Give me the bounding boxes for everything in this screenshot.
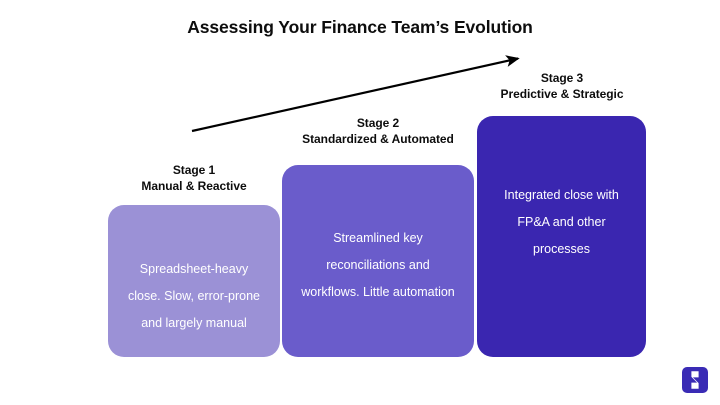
stage-box-1-text: Spreadsheet-heavy close. Slow, error-pro… [108, 256, 280, 337]
stage-box-1[interactable]: Spreadsheet-heavy close. Slow, error-pro… [108, 205, 280, 357]
stage-box-2-text: Streamlined key reconciliations and work… [282, 225, 474, 306]
stage-label-2: Stage 2 Standardized & Automated [272, 116, 484, 147]
stage-label-3: Stage 3 Predictive & Strategic [462, 71, 662, 102]
stage-label-1-line1: Stage 1 [108, 163, 280, 179]
stage-label-3-line2: Predictive & Strategic [462, 87, 662, 103]
stage-label-3-line1: Stage 3 [462, 71, 662, 87]
brand-logo-icon [682, 367, 708, 393]
stage-label-2-line1: Stage 2 [272, 116, 484, 132]
stage-label-1: Stage 1 Manual & Reactive [108, 163, 280, 194]
stage-box-3[interactable]: Integrated close with FP&A and other pro… [477, 116, 646, 357]
stage-label-1-line2: Manual & Reactive [108, 179, 280, 195]
page-title: Assessing Your Finance Team’s Evolution [0, 15, 720, 39]
stage-box-2[interactable]: Streamlined key reconciliations and work… [282, 165, 474, 357]
stage-box-3-text: Integrated close with FP&A and other pro… [477, 182, 646, 263]
slide-canvas: Assessing Your Finance Team’s Evolution … [0, 0, 720, 405]
stage-label-2-line2: Standardized & Automated [272, 132, 484, 148]
